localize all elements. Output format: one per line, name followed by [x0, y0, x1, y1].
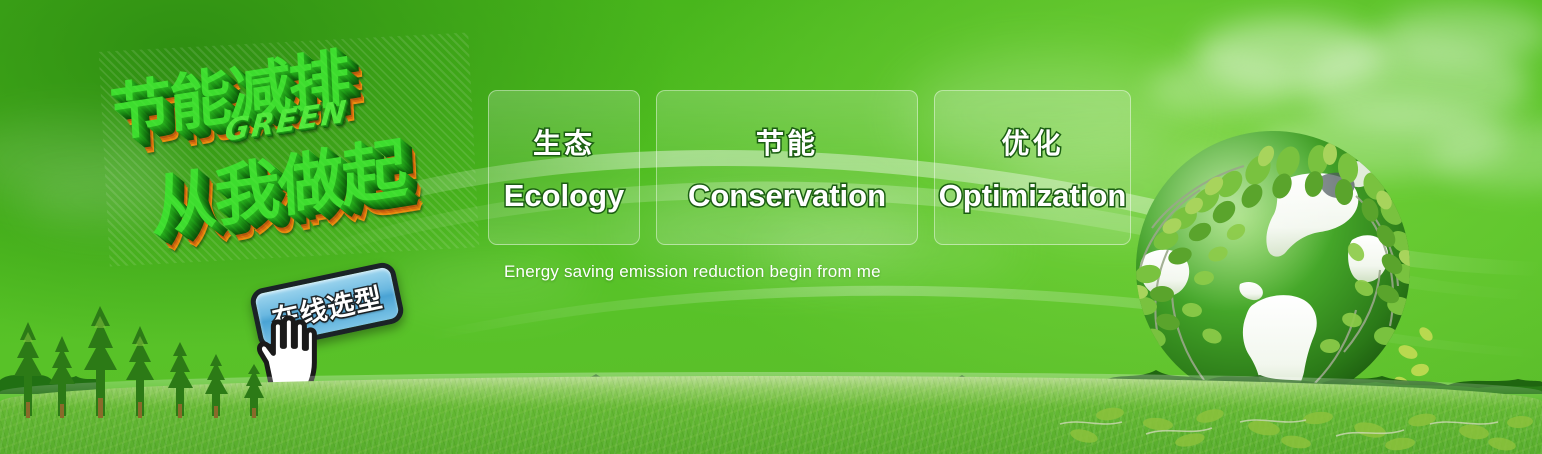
feature-card-en-label: Ecology	[504, 178, 625, 214]
grass-field-icon	[0, 376, 1542, 454]
feature-card-cn-label: 生态	[533, 122, 595, 162]
cloud-icon	[1430, 120, 1542, 190]
feature-card-cn-label: 节能	[756, 122, 818, 162]
feature-card-conservation[interactable]: 节能 Conservation	[656, 90, 918, 245]
feature-card-list: 生态 Ecology 节能 Conservation 优化 Optimizati…	[488, 90, 1131, 245]
cloud-icon	[1380, 5, 1542, 63]
cloud-icon	[1195, 18, 1385, 90]
feature-card-optimization[interactable]: 优化 Optimization	[934, 90, 1131, 245]
green-energy-banner: 节能减排 GREEN 从我做起 在线选型 生态 Ecology 节能 Conse…	[0, 0, 1542, 454]
online-selection-button[interactable]: 在线选型	[248, 260, 406, 351]
feature-card-en-label: Conservation	[688, 178, 886, 214]
hero-logo-3d: 节能减排 GREEN 从我做起	[99, 32, 480, 266]
online-selection-label: 在线选型	[268, 275, 386, 336]
feature-card-ecology[interactable]: 生态 Ecology	[488, 90, 640, 245]
feature-card-en-label: Optimization	[939, 178, 1127, 214]
banner-tagline: Energy saving emission reduction begin f…	[504, 262, 881, 282]
feature-card-cn-label: 优化	[1001, 122, 1063, 162]
online-selection-cta[interactable]: 在线选型	[248, 260, 406, 351]
